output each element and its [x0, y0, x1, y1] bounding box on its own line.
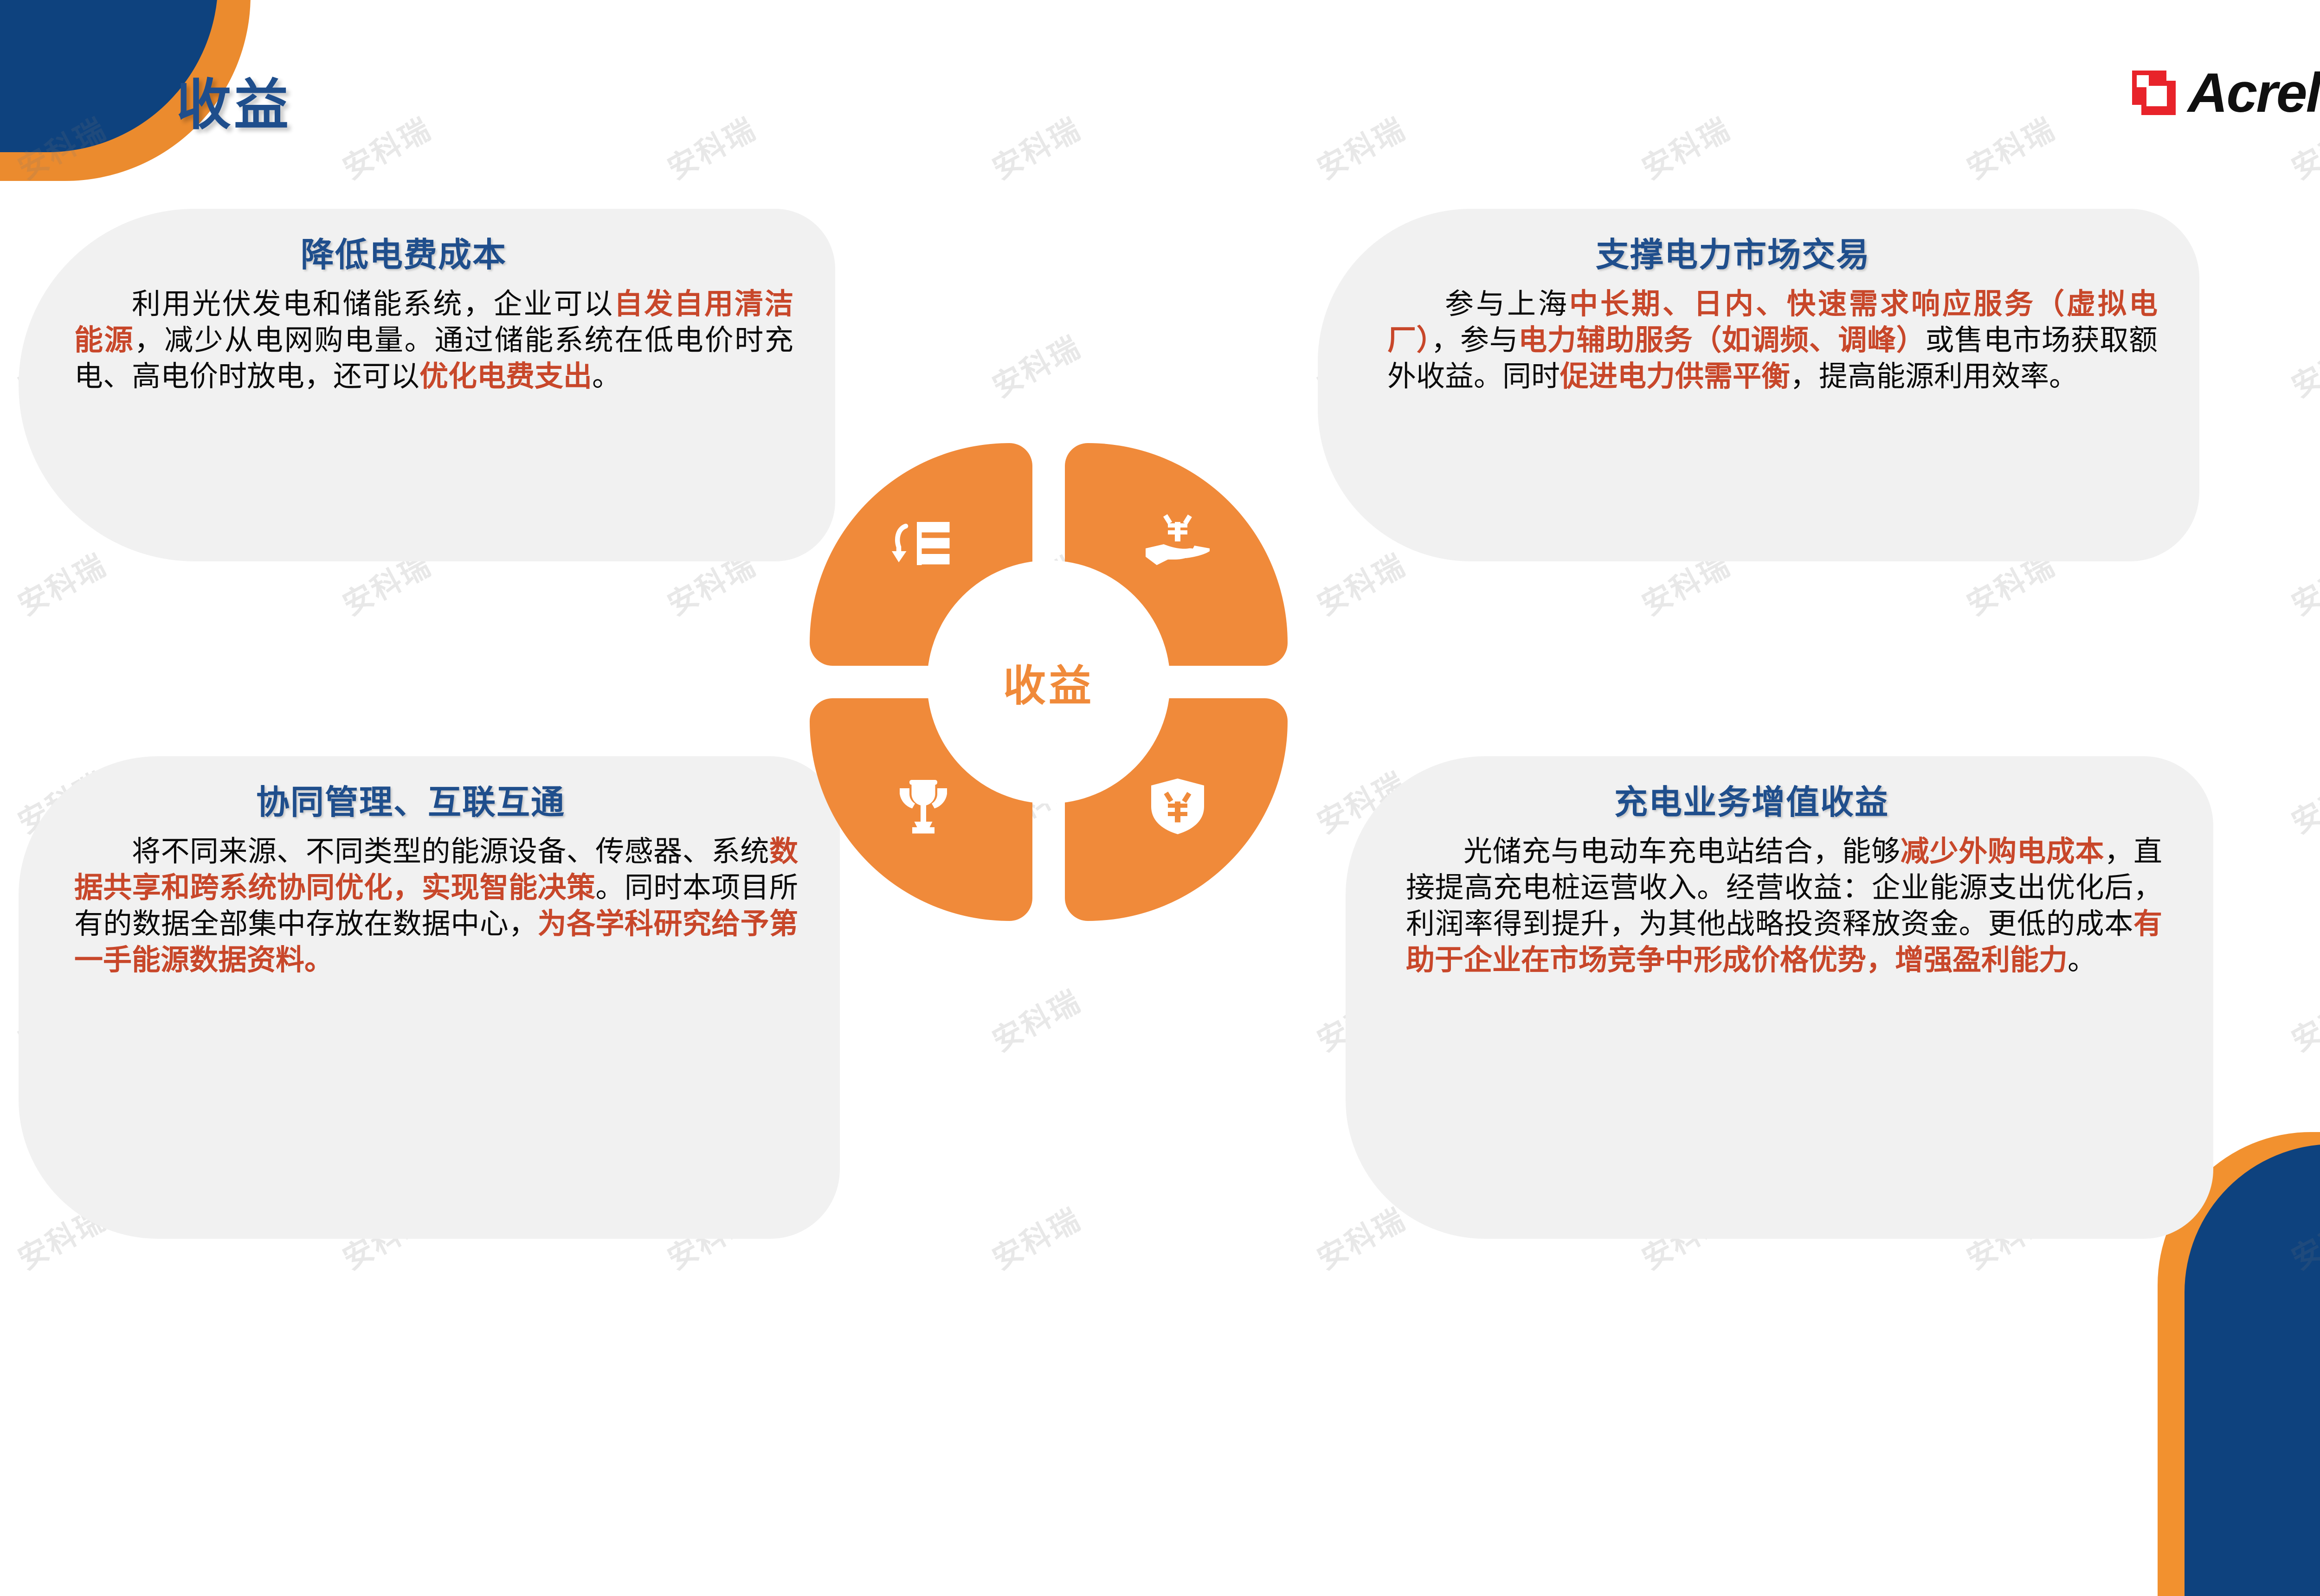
card-body: 利用光伏发电和储能系统，企业可以自发自用清洁能源，减少从电网购电量。通过储能系统… [74, 286, 793, 395]
body-text: ，提高能源利用效率。 [1790, 360, 2078, 393]
benefit-donut-diagram: 收益 [810, 443, 1288, 921]
watermark-text: 安科瑞 [659, 105, 762, 187]
watermark-text: 安科瑞 [1633, 105, 1737, 187]
card-body: 光储充与电动车充电站结合，能够减少外购电成本，直接提高充电桩运营收入。经营收益：… [1406, 834, 2162, 978]
brand-wordmark: Acrel [2188, 65, 2320, 121]
card-title: 协同管理、互联互通 [74, 775, 798, 824]
card-title: 充电业务增值收益 [1406, 775, 2162, 824]
highlight-text: 优化电费支出 [419, 360, 592, 393]
logo-square-hole [2146, 86, 2167, 106]
acrel-logo-mark-icon [2132, 71, 2177, 115]
watermark-text: 安科瑞 [1958, 105, 2062, 187]
watermark-text: 安科瑞 [2283, 759, 2320, 842]
body-text: 将不同来源、不同类型的能源设备、传感器、系统 [132, 836, 769, 868]
donut-center: 收益 [927, 560, 1170, 804]
card-title: 支撑电力市场交易 [1387, 227, 2158, 276]
donut-center-label: 收益 [1003, 651, 1094, 713]
watermark-text: 安科瑞 [1308, 105, 1412, 187]
body-text: 利用光伏发电和储能系统，企业可以 [132, 288, 614, 320]
body-text: 。 [2068, 944, 2096, 976]
benefit-card-charging-value-added: 充电业务增值收益 光储充与电动车充电站结合，能够减少外购电成本，直接提高充电桩运… [1346, 756, 2213, 1239]
page-title: 收益 [176, 60, 291, 140]
watermark-text: 安科瑞 [984, 105, 1087, 187]
body-text: 光储充与电动车充电站结合，能够 [1463, 836, 1901, 868]
body-text: 。 [592, 360, 621, 393]
benefit-card-collaborative-management: 协同管理、互联互通 将不同来源、不同类型的能源设备、传感器、系统数据共享和跨系统… [19, 756, 840, 1239]
watermark-text: 安科瑞 [1308, 541, 1412, 624]
hand-holding-yuan-icon [1143, 508, 1212, 578]
trophy-icon [889, 770, 958, 840]
watermark-text: 安科瑞 [984, 323, 1087, 405]
watermark-text: 安科瑞 [984, 978, 1087, 1060]
watermark-text: 安科瑞 [334, 105, 438, 187]
body-text: ，参与 [1431, 324, 1518, 356]
watermark-text: 安科瑞 [2283, 978, 2320, 1060]
watermark-text: 安科瑞 [1308, 1196, 1412, 1278]
watermark-text: 安科瑞 [2283, 541, 2320, 624]
shield-yuan-icon [1143, 770, 1212, 840]
watermark-text: 安科瑞 [984, 1196, 1087, 1278]
watermark-text: 安科瑞 [2283, 323, 2320, 405]
highlight-text: 促进电力供需平衡 [1560, 360, 1790, 393]
brand-logo: Acrel [2132, 65, 2320, 121]
card-title: 降低电费成本 [74, 227, 793, 276]
highlight-text: 减少外购电成本 [1901, 836, 2104, 868]
highlight-text: 电力辅助服务（如调频、调峰） [1518, 324, 1925, 356]
card-body: 将不同来源、不同类型的能源设备、传感器、系统数据共享和跨系统协同优化，实现智能决… [74, 834, 798, 978]
watermark-text: 安科瑞 [9, 541, 113, 624]
benefit-card-power-market-trading: 支撑电力市场交易 参与上海中长期、日内、快速需求响应服务（虚拟电厂），参与电力辅… [1318, 209, 2199, 561]
logo-square-notch [2137, 75, 2149, 87]
electricity-cost-reduction-icon [888, 508, 957, 578]
card-body: 参与上海中长期、日内、快速需求响应服务（虚拟电厂），参与电力辅助服务（如调频、调… [1387, 286, 2158, 395]
body-text: 参与上海 [1445, 288, 1569, 320]
benefit-card-reduce-electricity-cost: 降低电费成本 利用光伏发电和储能系统，企业可以自发自用清洁能源，减少从电网购电量… [19, 209, 835, 561]
